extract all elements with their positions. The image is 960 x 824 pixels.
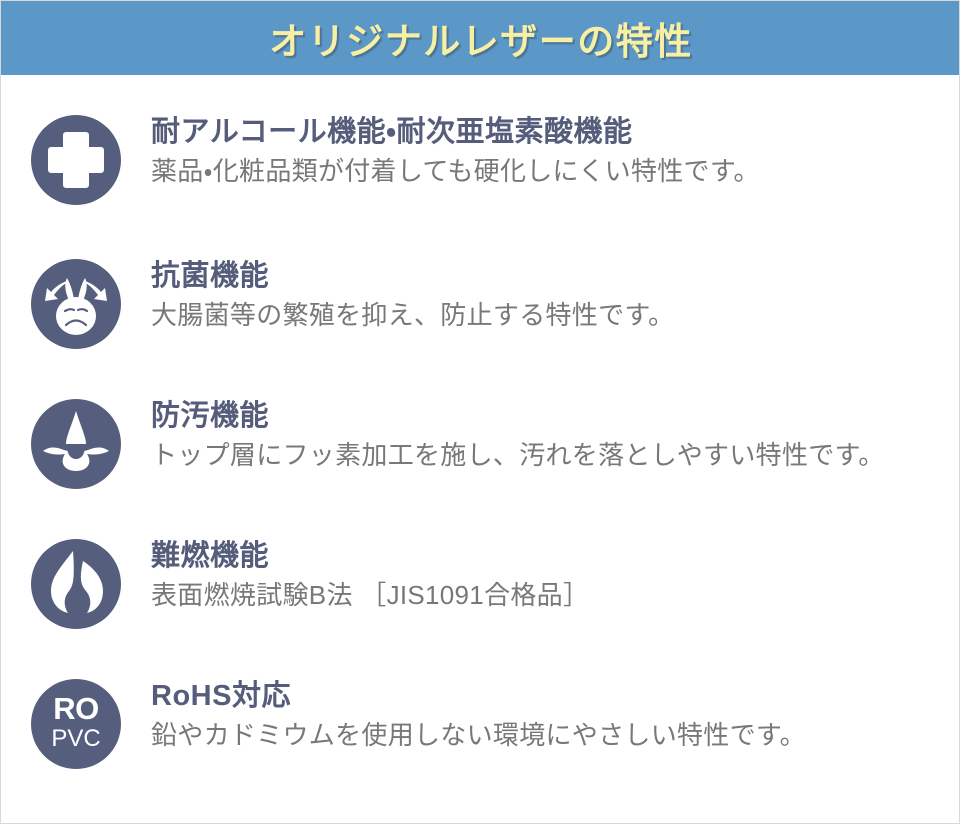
rohs-icon-bottom-label: PVC xyxy=(31,727,121,751)
antibacterial-germ-icon xyxy=(31,259,121,349)
feature-title: 抗菌機能 xyxy=(151,259,960,293)
feature-title: 防汚機能 xyxy=(151,399,960,433)
feature-row: 耐アルコール機能・耐次亜塩素酸機能 薬品・化粧品類が付着しても硬化しにくい特性で… xyxy=(1,75,960,215)
feature-text-block: 防汚機能 トップ層にフッ素加工を施し、汚れを落としやすい特性です。 xyxy=(151,355,960,473)
feature-row: 抗菌機能 大腸菌等の繁殖を抑え、防止する特性です。 xyxy=(1,215,960,355)
feature-row: 難燃機能 表面燃焼試験B法 ［JIS1091合格品］ xyxy=(1,495,960,635)
feature-infographic-page: オリジナルレザーの特性 耐アルコール機能・耐次亜塩素酸機能 薬品・化粧品類が付着… xyxy=(0,0,960,824)
flame-icon xyxy=(31,539,121,629)
feature-row: 防汚機能 トップ層にフッ素加工を施し、汚れを落としやすい特性です。 xyxy=(1,355,960,495)
feature-description: トップ層にフッ素加工を施し、汚れを落としやすい特性です。 xyxy=(151,439,960,473)
feature-icon-wrap xyxy=(1,75,151,205)
feature-title: RoHS対応 xyxy=(151,679,960,713)
feature-icon-wrap: RO PVC xyxy=(1,635,151,769)
page-title: オリジナルレザーの特性 xyxy=(269,11,693,65)
feature-text-block: RoHS対応 鉛やカドミウムを使用しない環境にやさしい特性です。 xyxy=(151,635,960,753)
header-banner: オリジナルレザーの特性 xyxy=(1,1,960,75)
feature-description: 表面燃焼試験B法 ［JIS1091合格品］ xyxy=(151,579,960,613)
feature-list: 耐アルコール機能・耐次亜塩素酸機能 薬品・化粧品類が付着しても硬化しにくい特性で… xyxy=(1,75,960,775)
feature-row: RO PVC RoHS対応 鉛やカドミウムを使用しない環境にやさしい特性です。 xyxy=(1,635,960,775)
feature-icon-wrap xyxy=(1,215,151,349)
feature-title: 耐アルコール機能・耐次亜塩素酸機能 xyxy=(151,115,960,149)
water-droplet-repel-icon xyxy=(31,399,121,489)
feature-title: 難燃機能 xyxy=(151,539,960,573)
feature-description: 鉛やカドミウムを使用しない環境にやさしい特性です。 xyxy=(151,719,960,753)
feature-icon-wrap xyxy=(1,355,151,489)
feature-description: 薬品・化粧品類が付着しても硬化しにくい特性です。 xyxy=(151,155,960,189)
feature-description: 大腸菌等の繁殖を抑え、防止する特性です。 xyxy=(151,299,960,333)
rohs-icon-top-label: RO xyxy=(31,693,121,724)
feature-text-block: 難燃機能 表面燃焼試験B法 ［JIS1091合格品］ xyxy=(151,495,960,613)
feature-text-block: 抗菌機能 大腸菌等の繁殖を抑え、防止する特性です。 xyxy=(151,215,960,333)
rohs-pvc-icon: RO PVC xyxy=(31,679,121,769)
medical-cross-icon xyxy=(31,115,121,205)
feature-text-block: 耐アルコール機能・耐次亜塩素酸機能 薬品・化粧品類が付着しても硬化しにくい特性で… xyxy=(151,75,960,189)
feature-icon-wrap xyxy=(1,495,151,629)
